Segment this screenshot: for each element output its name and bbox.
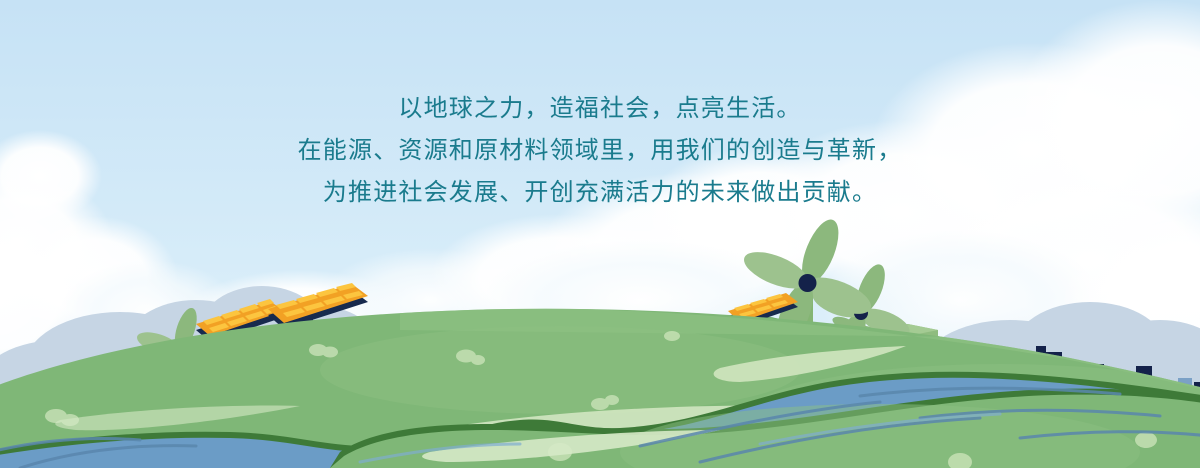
eco-energy-banner: 以地球之力，造福社会，点亮生活。 在能源、资源和原材料领域里，用我们的创造与革新…: [0, 0, 1200, 468]
landscape-illustration: [0, 0, 1200, 468]
